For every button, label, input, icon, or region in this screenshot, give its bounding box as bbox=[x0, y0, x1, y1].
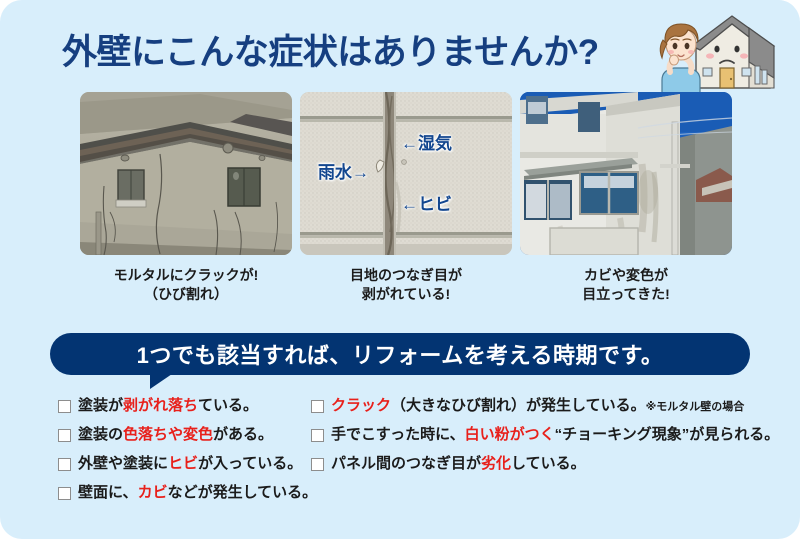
caption-line-2: 剥がれている! bbox=[300, 285, 512, 304]
photo-joint-peeling: ←湿気 雨水→ ←ヒビ bbox=[300, 92, 512, 255]
checklist-column-left: 塗装が剥がれ落ちている。 塗装の色落ちや変色がある。 外壁や塗装にヒビが入ってい… bbox=[58, 396, 318, 512]
checklist-item[interactable]: 手でこすった時に、白い粉がつく“チョーキング現象”が見られる。 bbox=[311, 425, 781, 454]
annotation-moisture: ←湿気 bbox=[401, 129, 452, 154]
call-to-action-banner: 1つでも該当すれば、リフォームを考える時期です。 bbox=[50, 333, 750, 379]
text-pre: パネル間のつなぎ目が bbox=[331, 455, 481, 472]
checklist-column-right: クラック（大きなひび割れ）が発生している。※モルタル壁の場合 手でこすった時に、… bbox=[311, 396, 781, 483]
caption-line-1: 目地のつなぎ目が bbox=[300, 266, 512, 285]
banner-pointer-tail bbox=[150, 374, 172, 389]
caption-line-1: モルタルにクラックが! bbox=[80, 266, 292, 285]
text-pre: 外壁や塗装に bbox=[78, 455, 168, 472]
text-post: がある。 bbox=[213, 426, 273, 443]
text-highlight: カビ bbox=[138, 484, 168, 501]
checkbox-icon[interactable] bbox=[311, 429, 324, 442]
checklist-item[interactable]: クラック（大きなひび割れ）が発生している。※モルタル壁の場合 bbox=[311, 396, 781, 425]
checklist-item[interactable]: パネル間のつなぎ目が劣化している。 bbox=[311, 454, 781, 483]
checklist-item[interactable]: 塗装が剥がれ落ちている。 bbox=[58, 396, 318, 425]
text-highlight: 剥がれ落ち bbox=[123, 397, 198, 414]
text-post: などが発生している。 bbox=[168, 484, 318, 501]
text-highlight: 白い粉がつく bbox=[465, 426, 555, 443]
text-post: （大きなひび割れ）が発生している。 bbox=[391, 397, 646, 414]
checklist-item-label: パネル間のつなぎ目が劣化している。 bbox=[331, 454, 586, 474]
text-footnote: ※モルタル壁の場合 bbox=[646, 401, 745, 413]
caption-line-2: （ひび割れ） bbox=[80, 285, 292, 304]
text-post: “チョーキング現象”が見られる。 bbox=[555, 426, 780, 443]
checkbox-icon[interactable] bbox=[311, 458, 324, 471]
checkbox-icon[interactable] bbox=[58, 400, 71, 413]
photo-mold-discoloration bbox=[520, 92, 732, 255]
checklist-item[interactable]: 塗装の色落ちや変色がある。 bbox=[58, 425, 318, 454]
symptom-checklist: 塗装が剥がれ落ちている。 塗装の色落ちや変色がある。 外壁や塗装にヒビが入ってい… bbox=[0, 396, 800, 521]
text-highlight: 劣化 bbox=[481, 455, 511, 472]
symptom-card-mortar-crack: モルタルにクラックが! （ひび割れ） bbox=[80, 92, 292, 305]
annotation-crack: ←ヒビ bbox=[401, 190, 452, 215]
checkbox-icon[interactable] bbox=[58, 429, 71, 442]
text-highlight: 色落ちや変色 bbox=[123, 426, 213, 443]
photo-caption-mold-discoloration: カビや変色が 目立ってきた! bbox=[520, 266, 732, 305]
checklist-item-label: 塗装の色落ちや変色がある。 bbox=[78, 425, 273, 445]
checklist-item[interactable]: 壁面に、カビなどが発生している。 bbox=[58, 483, 318, 512]
checklist-item-label: 外壁や塗装にヒビが入っている。 bbox=[78, 454, 302, 474]
caption-line-1: カビや変色が bbox=[520, 266, 732, 285]
photo-mortar-crack bbox=[80, 92, 292, 255]
caption-line-2: 目立ってきた! bbox=[520, 285, 732, 304]
banner-text: 1つでも該当すれば、リフォームを考える時期です。 bbox=[137, 338, 664, 370]
photo-caption-mortar-crack: モルタルにクラックが! （ひび割れ） bbox=[80, 266, 292, 305]
text-post: ている。 bbox=[198, 397, 258, 414]
checkbox-icon[interactable] bbox=[58, 458, 71, 471]
text-highlight: ヒビ bbox=[168, 455, 198, 472]
worried-woman-and-house-illustration bbox=[654, 0, 794, 96]
text-pre: 手でこすった時に、 bbox=[331, 426, 465, 443]
symptom-card-joint-peeling: ←湿気 雨水→ ←ヒビ 目地のつなぎ目が 剥がれている! bbox=[300, 92, 512, 305]
page-title: 外壁にこんな症状はありませんか? bbox=[62, 24, 599, 75]
text-pre: 塗装が bbox=[78, 397, 123, 414]
text-pre: 塗装の bbox=[78, 426, 123, 443]
text-post: している。 bbox=[511, 455, 586, 472]
photo-caption-joint-peeling: 目地のつなぎ目が 剥がれている! bbox=[300, 266, 512, 305]
checklist-item[interactable]: 外壁や塗装にヒビが入っている。 bbox=[58, 454, 318, 483]
banner-pill: 1つでも該当すれば、リフォームを考える時期です。 bbox=[50, 333, 750, 375]
text-pre: 壁面に、 bbox=[78, 484, 138, 501]
screenshot-root: 外壁にこんな症状はありませんか? bbox=[0, 0, 800, 539]
checkbox-icon[interactable] bbox=[58, 487, 71, 500]
info-card: 外壁にこんな症状はありませんか? bbox=[0, 0, 800, 539]
checkbox-icon[interactable] bbox=[311, 400, 324, 413]
text-highlight: クラック bbox=[331, 397, 391, 414]
checklist-item-label: クラック（大きなひび割れ）が発生している。※モルタル壁の場合 bbox=[331, 396, 744, 417]
annotation-rainwater: 雨水→ bbox=[318, 158, 369, 183]
checklist-item-label: 壁面に、カビなどが発生している。 bbox=[78, 483, 317, 503]
text-post: が入っている。 bbox=[198, 455, 302, 472]
symptom-photo-row: モルタルにクラックが! （ひび割れ） bbox=[0, 92, 800, 307]
checklist-item-label: 手でこすった時に、白い粉がつく“チョーキング現象”が見られる。 bbox=[331, 425, 779, 445]
symptom-card-mold-discoloration: カビや変色が 目立ってきた! bbox=[520, 92, 732, 305]
checklist-item-label: 塗装が剥がれ落ちている。 bbox=[78, 396, 258, 416]
